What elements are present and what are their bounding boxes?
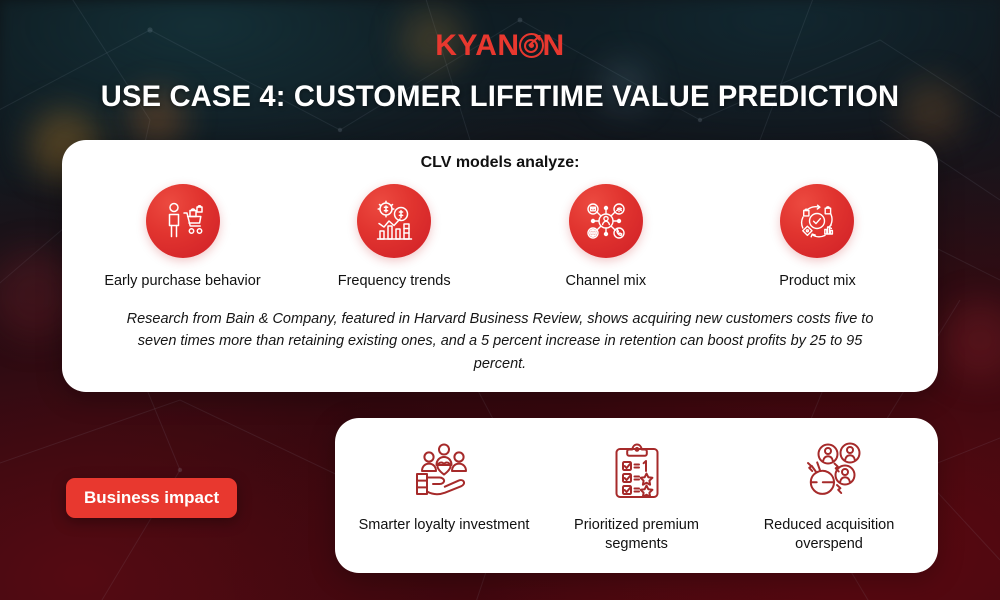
target-dartboard-icon [519,33,544,58]
page-title: USE CASE 4: CUSTOMER LIFETIME VALUE PRED… [15,80,985,114]
list-item-label: Frequency trends [292,272,497,290]
list-item[interactable]: Frequency trends [292,184,497,290]
omnichannel-network-icon [569,184,643,258]
list-item[interactable]: Early purchase behavior [80,184,285,290]
clv-models-card: CLV models analyze: Early purchase [62,140,938,392]
status-badge: Business impact [66,478,237,518]
list-item-label: Channel mix [503,272,708,290]
list-item[interactable]: Product mix [715,184,920,290]
hand-holding-people-heart-icon [349,436,539,508]
list-item-label: Product mix [715,272,920,290]
clv-model-list: Early purchase behavior [80,184,920,290]
magnet-attracting-customers-icon [734,436,924,508]
list-item-label: Smarter loyalty investment [349,516,539,535]
brand-logo-text-before: KYAN [435,29,519,62]
research-quote: Research from Bain & Company, featured i… [114,308,886,375]
business-impact-card: Smarter loyalty investment [335,418,938,573]
clipboard-checklist-stars-icon [542,436,732,508]
bar-chart-coins-icon [357,184,431,258]
brand-logo-text-after: N [543,29,565,62]
brand-logo-text: KYANN [435,26,564,66]
list-item[interactable]: Smarter loyalty investment [349,436,539,535]
list-item[interactable]: Channel mix [503,184,708,290]
list-item-label: Prioritized premium segments [542,516,732,554]
card-heading: CLV models analyze: [62,154,938,172]
list-item-label: Reduced acquisition overspend [734,516,924,554]
brand-logo: KYANN [0,26,1000,66]
slide-canvas: KYANN USE CASE 4: CUSTOMER LIFETIME VALU… [0,0,1000,600]
list-item[interactable]: Reduced acquisition overspend [734,436,924,554]
product-cycle-check-icon [780,184,854,258]
list-item[interactable]: Prioritized premium segments [542,436,732,554]
business-impact-list: Smarter loyalty investment [349,436,924,554]
list-item-label: Early purchase behavior [80,272,285,290]
shopper-with-cart-icon [146,184,220,258]
